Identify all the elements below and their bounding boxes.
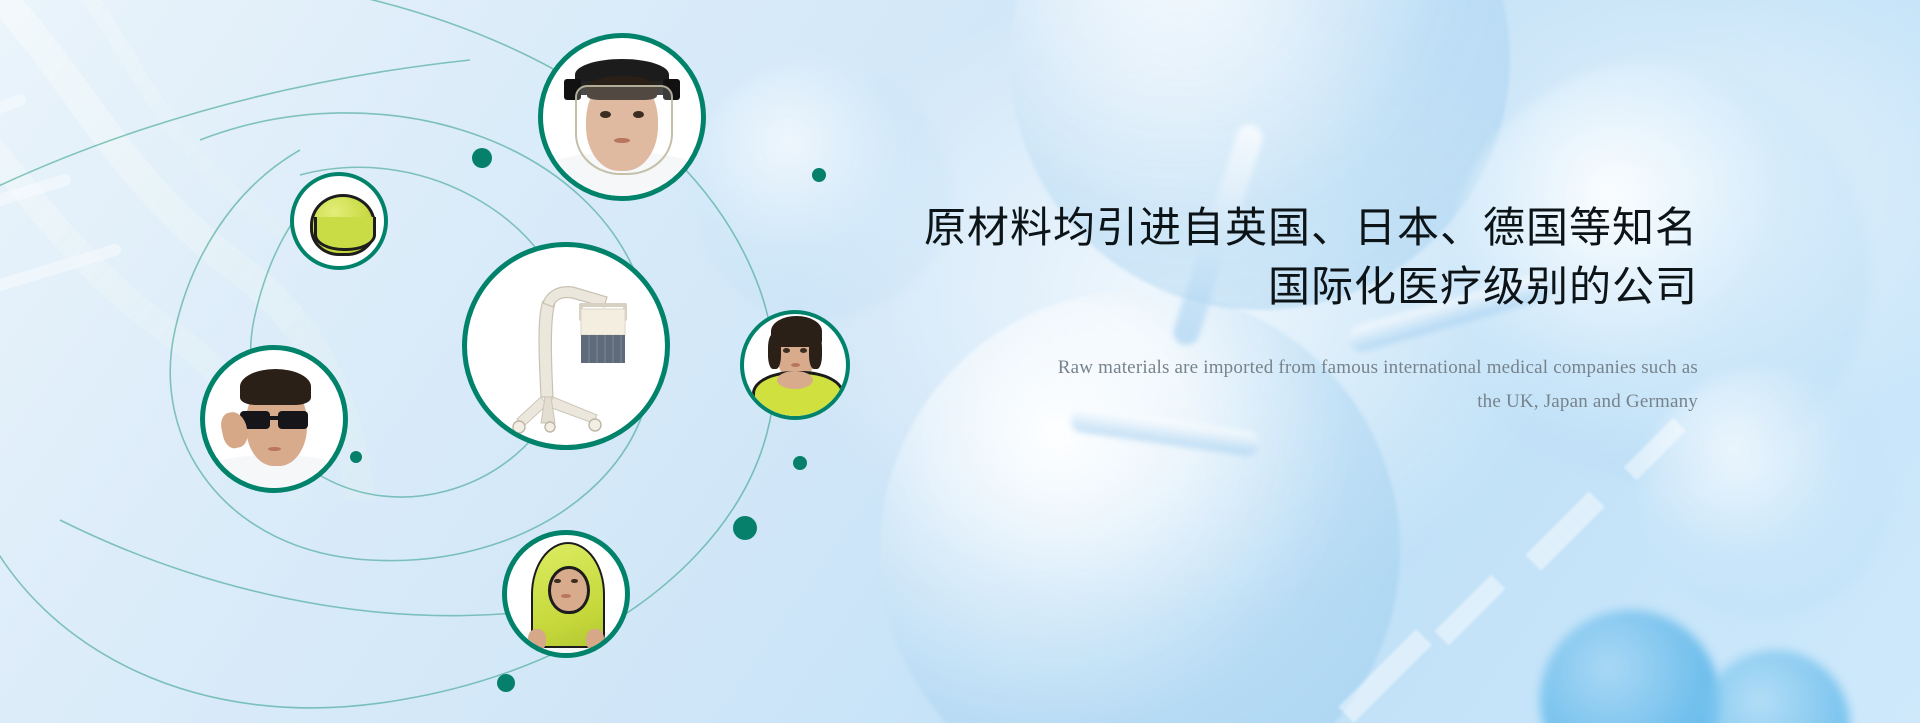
thyroid-collar-icon: [744, 314, 846, 416]
connector-dot-bottom: [497, 674, 515, 692]
subtitle-line-1: Raw materials are imported from famous i…: [918, 351, 1698, 384]
lead-glasses-icon: [205, 350, 343, 488]
copy-block: 原材料均引进自英国、日本、德国等知名 国际化医疗级别的公司 Raw materi…: [918, 200, 1698, 418]
connector-dot-center: [733, 516, 757, 540]
connector-dot-upper-right: [812, 168, 826, 182]
product-bubble-lead-hood[interactable]: [502, 530, 630, 658]
product-bubble-mobile-barrier[interactable]: [462, 242, 670, 450]
background-molecule-deep-blue-2: [1700, 650, 1850, 723]
heading-line-2: 国际化医疗级别的公司: [918, 259, 1698, 316]
lead-cap-icon: [294, 176, 384, 266]
background-dash-3: [1338, 629, 1431, 722]
lead-hood-icon: [507, 535, 625, 653]
connector-dot-top: [472, 148, 492, 168]
product-bubble-lead-glasses[interactable]: [200, 345, 348, 493]
subtitle-line-2: the UK, Japan and Germany: [918, 385, 1698, 418]
background-dash-4: [1624, 418, 1686, 480]
connector-dot-right: [793, 456, 807, 470]
background-dash-2: [1435, 575, 1506, 646]
background-molecule-small-left: [690, 60, 950, 320]
subtitle-block: Raw materials are imported from famous i…: [918, 351, 1698, 418]
promo-banner: 原材料均引进自英国、日本、德国等知名 国际化医疗级别的公司 Raw materi…: [0, 0, 1920, 723]
product-bubble-lead-cap[interactable]: [290, 172, 388, 270]
product-bubble-thyroid-collar[interactable]: [740, 310, 850, 420]
lead-face-shield-icon: [543, 38, 701, 196]
background-molecule-deep-blue: [1540, 610, 1720, 723]
mobile-lead-barrier-icon: [467, 247, 665, 445]
background-dash-1: [1525, 491, 1604, 570]
heading-line-1: 原材料均引进自英国、日本、德国等知名: [918, 200, 1698, 257]
connector-dot-mid-left: [350, 451, 362, 463]
product-bubble-face-shield[interactable]: [538, 33, 706, 201]
